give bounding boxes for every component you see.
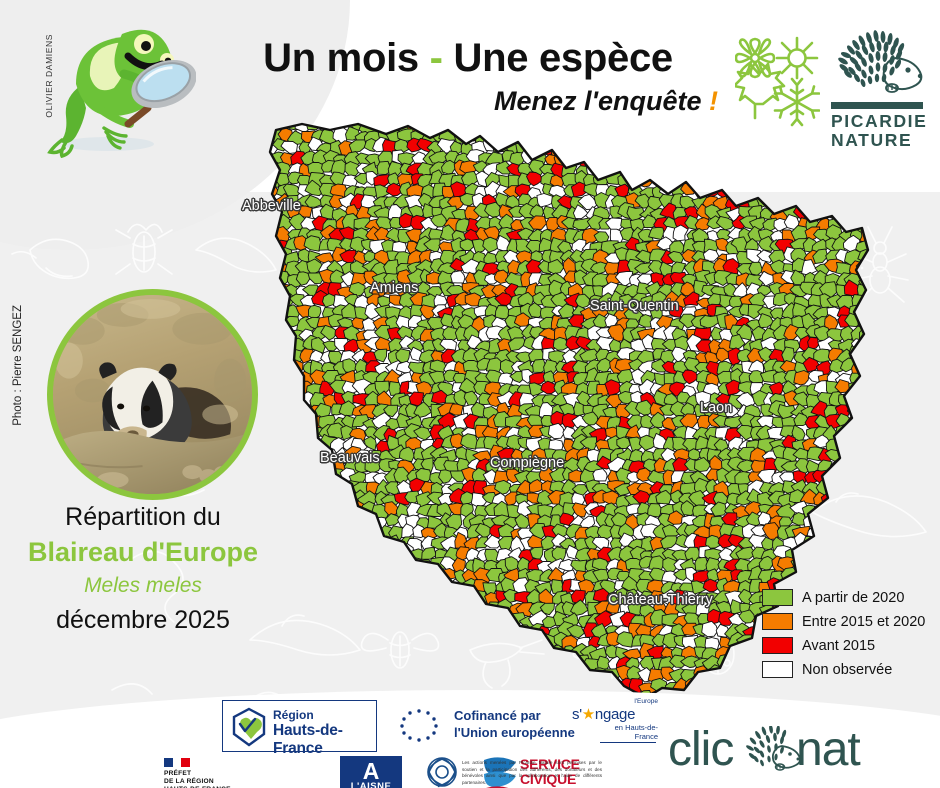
commune-polygon	[339, 513, 356, 528]
commune-polygon	[288, 447, 306, 461]
commune-polygon	[365, 571, 380, 584]
commune-polygon	[238, 216, 251, 230]
commune-polygon	[180, 658, 193, 670]
commune-polygon	[190, 679, 204, 694]
commune-polygon	[856, 485, 870, 498]
commune-polygon	[729, 128, 747, 143]
commune-polygon	[321, 568, 338, 581]
commune-polygon	[420, 570, 433, 583]
commune-polygon	[406, 580, 422, 596]
commune-polygon	[561, 656, 573, 672]
commune-polygon	[310, 600, 326, 613]
commune-polygon	[180, 249, 181, 263]
commune-polygon	[267, 327, 282, 341]
commune-polygon	[379, 546, 394, 559]
commune-polygon	[856, 403, 870, 417]
commune-polygon	[779, 139, 797, 153]
commune-polygon	[837, 120, 851, 132]
commune-polygon	[816, 549, 832, 562]
commune-polygon	[553, 657, 566, 670]
commune-polygon	[221, 284, 235, 296]
commune-polygon	[767, 120, 785, 130]
hedgehog-icon	[742, 726, 802, 774]
commune-polygon	[858, 120, 870, 122]
badger-photo	[47, 289, 258, 500]
commune-polygon	[233, 228, 250, 241]
eu-logo-text: Cofinancé par l'Union européenne	[454, 707, 575, 741]
commune-polygon	[273, 581, 290, 593]
commune-polygon	[534, 120, 547, 122]
commune-polygon	[680, 120, 694, 132]
commune-polygon	[427, 646, 445, 659]
european-union-logo: Cofinancé par l'Union européenne	[388, 700, 578, 752]
commune-polygon	[220, 166, 238, 178]
commune-polygon	[408, 656, 423, 668]
commune-polygon	[752, 174, 767, 188]
commune-polygon	[608, 127, 624, 142]
commune-polygon	[227, 471, 243, 482]
eu-flag-icon	[388, 702, 450, 748]
commune-polygon	[659, 139, 676, 153]
commune-polygon	[686, 128, 702, 142]
commune-polygon	[364, 657, 383, 668]
commune-polygon	[227, 218, 241, 233]
commune-polygon	[813, 120, 827, 132]
photo-credit: Photo : Pierre SENGEZ	[12, 305, 24, 426]
commune-polygon	[267, 293, 283, 306]
commune-polygon	[430, 624, 442, 637]
commune-polygon	[455, 120, 469, 121]
commune-polygon	[198, 258, 215, 274]
commune-polygon	[365, 623, 380, 635]
commune-polygon	[212, 216, 229, 228]
commune-polygon	[815, 196, 831, 210]
commune-polygon	[286, 461, 303, 474]
commune-polygon	[407, 566, 424, 581]
commune-polygon	[271, 503, 289, 516]
commune-polygon	[827, 526, 842, 540]
commune-polygon	[520, 635, 532, 649]
commune-polygon	[518, 665, 532, 680]
map-legend: A partir de 2020 Entre 2015 et 2020 Avan…	[762, 586, 932, 682]
legend-swatch-orange	[762, 613, 793, 630]
commune-polygon	[242, 174, 257, 188]
commune-polygon	[213, 294, 230, 309]
hedgehog-icon	[830, 28, 926, 100]
commune-polygon	[450, 645, 466, 656]
commune-polygon	[230, 273, 246, 286]
commune-polygon	[675, 128, 688, 144]
commune-polygon	[352, 647, 366, 659]
commune-polygon	[560, 120, 577, 134]
commune-polygon	[713, 120, 732, 133]
commune-polygon	[848, 120, 865, 121]
commune-polygon	[223, 484, 237, 497]
commune-polygon	[394, 667, 411, 682]
commune-polygon	[783, 130, 799, 145]
commune-polygon	[336, 615, 353, 628]
commune-polygon	[337, 667, 355, 679]
commune-polygon	[344, 634, 361, 650]
commune-polygon	[288, 635, 303, 651]
commune-polygon	[347, 612, 364, 628]
commune-polygon	[449, 621, 467, 636]
commune-polygon	[256, 339, 273, 354]
sengage-top-label: l'Europe	[572, 698, 658, 706]
commune-polygon	[250, 647, 267, 659]
commune-polygon	[388, 603, 403, 617]
commune-polygon	[491, 615, 506, 629]
commune-polygon	[737, 654, 755, 667]
commune-polygon	[211, 139, 228, 153]
commune-polygon	[266, 349, 281, 361]
commune-polygon	[488, 127, 503, 143]
commune-polygon	[258, 462, 271, 473]
commune-polygon	[587, 128, 602, 142]
commune-polygon	[458, 614, 472, 629]
commune-polygon	[833, 505, 850, 518]
commune-polygon	[359, 590, 377, 606]
commune-polygon	[285, 648, 300, 661]
legend-item-before-2015[interactable]: Avant 2015	[762, 634, 932, 657]
commune-polygon	[840, 457, 855, 472]
commune-polygon	[822, 140, 840, 157]
commune-polygon	[844, 513, 862, 527]
commune-polygon	[230, 282, 247, 297]
commune-polygon	[852, 551, 868, 562]
commune-polygon	[187, 659, 201, 672]
commune-polygon	[322, 610, 340, 624]
commune-polygon	[565, 127, 581, 141]
commune-polygon	[256, 677, 272, 691]
commune-polygon	[180, 120, 191, 130]
commune-polygon	[321, 601, 337, 615]
commune-polygon	[472, 120, 487, 130]
commune-polygon	[243, 667, 261, 679]
commune-polygon	[256, 372, 269, 385]
commune-polygon	[698, 148, 714, 164]
commune-polygon	[207, 174, 226, 186]
commune-polygon	[647, 120, 662, 130]
commune-polygon	[376, 593, 392, 606]
commune-polygon	[267, 459, 281, 474]
commune-polygon	[186, 282, 203, 294]
commune-polygon	[285, 559, 302, 573]
commune-polygon	[284, 427, 302, 441]
commune-polygon	[351, 580, 369, 595]
commune-polygon	[253, 351, 268, 363]
commune-polygon	[518, 648, 533, 662]
caption-species-common-name: Blaireau d'Europe	[18, 534, 268, 570]
commune-polygon	[310, 547, 326, 561]
city-label-laon: Laon	[700, 400, 732, 416]
commune-polygon	[751, 120, 767, 121]
commune-polygon	[864, 153, 871, 166]
commune-polygon	[443, 600, 457, 616]
commune-polygon	[212, 154, 229, 166]
commune-polygon	[741, 151, 760, 167]
commune-polygon	[253, 164, 269, 177]
commune-polygon	[575, 120, 592, 122]
commune-polygon	[584, 671, 601, 684]
commune-polygon	[330, 605, 348, 620]
commune-polygon	[340, 625, 356, 638]
sengage-main-pre: s'	[572, 706, 582, 723]
commune-polygon	[397, 611, 416, 623]
commune-polygon	[440, 637, 457, 652]
commune-polygon	[791, 139, 807, 150]
commune-polygon	[396, 635, 415, 650]
commune-polygon	[424, 582, 440, 596]
commune-polygon	[649, 128, 665, 142]
commune-polygon	[793, 186, 809, 201]
commune-polygon	[663, 176, 678, 189]
commune-polygon	[339, 647, 357, 659]
commune-polygon	[287, 680, 304, 694]
legend-item-not-observed[interactable]: Non observée	[762, 658, 932, 681]
commune-polygon	[197, 283, 213, 295]
commune-polygon	[856, 468, 870, 483]
commune-polygon	[333, 525, 346, 541]
commune-polygon	[190, 217, 204, 233]
commune-polygon	[284, 439, 301, 454]
commune-polygon	[736, 131, 755, 143]
commune-polygon	[735, 667, 753, 683]
commune-polygon	[322, 479, 338, 494]
commune-polygon	[844, 183, 862, 198]
commune-polygon	[847, 470, 864, 483]
commune-polygon	[494, 270, 507, 283]
commune-polygon	[401, 120, 415, 122]
commune-polygon	[808, 150, 825, 164]
commune-polygon	[266, 524, 283, 537]
commune-polygon	[838, 569, 854, 584]
commune-polygon	[343, 566, 361, 580]
commune-polygon	[210, 163, 228, 174]
commune-polygon	[528, 136, 546, 153]
legend-item-from-2020[interactable]: A partir de 2020	[762, 586, 932, 609]
commune-polygon	[274, 567, 292, 583]
commune-polygon	[308, 635, 326, 650]
commune-polygon	[254, 327, 271, 340]
commune-polygon	[465, 603, 482, 615]
commune-polygon	[246, 679, 259, 693]
commune-polygon	[795, 567, 810, 583]
commune-polygon	[328, 667, 345, 680]
commune-polygon	[391, 581, 409, 595]
commune-polygon	[859, 129, 870, 142]
species-caption: Répartition du Blaireau d'Europe Meles m…	[18, 500, 268, 638]
commune-polygon	[426, 120, 441, 131]
commune-polygon	[449, 120, 465, 130]
commune-polygon	[243, 228, 260, 241]
commune-polygon	[365, 526, 381, 538]
commune-polygon	[839, 447, 854, 462]
commune-polygon	[817, 132, 834, 145]
commune-polygon	[248, 459, 264, 473]
commune-polygon	[822, 502, 836, 515]
commune-polygon	[838, 208, 855, 219]
region-logo-line1: Région	[273, 708, 376, 722]
commune-polygon	[817, 183, 831, 195]
commune-polygon	[508, 659, 524, 672]
commune-polygon	[255, 261, 269, 276]
commune-polygon	[736, 140, 750, 155]
prefet-logo: PRÉFET DE LA RÉGION HAUTS-DE-FRANCE Libe…	[164, 758, 244, 788]
commune-polygon	[771, 120, 787, 121]
commune-polygon	[366, 677, 383, 691]
commune-polygon	[849, 439, 864, 452]
commune-polygon	[698, 120, 714, 122]
commune-polygon	[800, 143, 820, 156]
commune-polygon	[219, 261, 234, 277]
commune-polygon	[847, 483, 865, 494]
commune-polygon	[276, 602, 294, 616]
commune-polygon	[287, 481, 304, 493]
commune-polygon	[521, 131, 535, 143]
city-label-chateau-thierry: Château-Thierry	[608, 592, 713, 608]
commune-polygon	[694, 129, 710, 143]
commune-polygon	[487, 678, 504, 690]
commune-polygon	[745, 140, 763, 153]
commune-polygon	[496, 668, 512, 682]
commune-polygon	[845, 492, 861, 505]
commune-polygon	[180, 206, 182, 221]
commune-polygon	[643, 153, 660, 167]
commune-polygon	[258, 216, 273, 231]
clicnat-logo[interactable]: clic	[668, 724, 888, 778]
commune-polygon	[494, 120, 509, 129]
commune-polygon	[507, 666, 522, 680]
commune-polygon	[188, 161, 202, 175]
commune-polygon	[829, 132, 847, 145]
commune-polygon	[180, 120, 183, 131]
commune-polygon	[254, 482, 272, 495]
commune-polygon	[442, 612, 458, 627]
commune-polygon	[242, 481, 259, 497]
commune-polygon	[460, 239, 474, 251]
commune-polygon	[828, 571, 843, 585]
commune-polygon	[238, 141, 253, 153]
commune-polygon	[413, 581, 429, 593]
commune-polygon	[407, 605, 423, 616]
commune-polygon	[507, 120, 521, 129]
legend-item-2015-2020[interactable]: Entre 2015 et 2020	[762, 610, 932, 633]
commune-polygon	[533, 639, 549, 652]
commune-polygon	[386, 657, 405, 673]
commune-polygon	[482, 120, 498, 132]
commune-polygon	[221, 120, 239, 124]
commune-polygon	[676, 120, 693, 121]
commune-polygon	[861, 537, 870, 551]
commune-polygon	[703, 164, 718, 177]
commune-polygon	[792, 194, 806, 207]
commune-polygon	[184, 172, 202, 186]
commune-polygon	[180, 226, 193, 242]
commune-polygon	[288, 669, 302, 682]
commune-polygon	[282, 492, 301, 509]
commune-polygon	[198, 194, 213, 208]
commune-polygon	[329, 648, 344, 660]
commune-polygon	[301, 416, 316, 431]
commune-polygon	[438, 645, 456, 659]
commune-polygon	[770, 127, 787, 141]
oise-ring-icon	[420, 756, 464, 788]
commune-polygon	[312, 538, 325, 550]
legend-label-2015-2020: Entre 2015 et 2020	[802, 614, 925, 630]
commune-polygon	[758, 138, 774, 153]
commune-polygon	[308, 502, 322, 515]
commune-polygon	[375, 558, 392, 571]
commune-polygon	[861, 550, 870, 564]
commune-polygon	[237, 293, 252, 307]
commune-polygon	[296, 490, 310, 505]
commune-polygon	[807, 172, 822, 187]
commune-polygon	[220, 140, 236, 153]
commune-polygon	[372, 603, 390, 618]
commune-polygon	[268, 614, 283, 625]
commune-polygon	[625, 162, 641, 175]
commune-polygon	[748, 120, 760, 131]
commune-polygon	[827, 534, 841, 551]
commune-polygon	[243, 297, 261, 310]
commune-polygon	[274, 402, 290, 417]
commune-polygon	[404, 646, 422, 659]
commune-polygon	[240, 317, 256, 331]
commune-polygon	[220, 293, 238, 308]
commune-polygon	[640, 127, 658, 140]
commune-polygon	[241, 263, 255, 276]
commune-polygon	[549, 645, 564, 660]
commune-polygon	[306, 668, 324, 681]
commune-polygon	[258, 448, 273, 463]
commune-polygon	[224, 681, 241, 694]
subtitle-text: Menez l'enquête	[494, 86, 709, 116]
commune-polygon	[464, 656, 478, 670]
commune-polygon	[182, 214, 198, 232]
commune-polygon	[671, 120, 687, 133]
commune-polygon	[823, 517, 838, 530]
commune-polygon	[609, 120, 622, 121]
commune-polygon	[845, 120, 865, 133]
commune-polygon	[498, 613, 513, 630]
commune-polygon	[811, 139, 828, 152]
commune-polygon	[724, 163, 740, 174]
commune-polygon	[817, 160, 833, 176]
commune-polygon	[679, 141, 697, 153]
commune-polygon	[320, 468, 336, 484]
commune-polygon	[297, 593, 312, 604]
commune-polygon	[251, 282, 266, 297]
commune-polygon	[256, 175, 271, 189]
commune-polygon	[288, 613, 306, 627]
commune-polygon	[188, 207, 204, 222]
commune-polygon	[379, 614, 394, 627]
commune-polygon	[796, 120, 811, 123]
commune-polygon	[269, 547, 282, 562]
commune-polygon	[763, 150, 779, 162]
commune-polygon	[325, 120, 341, 124]
commune-polygon	[550, 141, 564, 155]
commune-polygon	[548, 667, 566, 682]
commune-polygon	[853, 513, 870, 526]
commune-polygon	[821, 120, 837, 135]
commune-polygon	[180, 208, 194, 222]
commune-polygon	[693, 120, 707, 132]
commune-polygon	[307, 625, 320, 637]
commune-polygon	[285, 601, 302, 615]
commune-polygon	[196, 656, 212, 669]
